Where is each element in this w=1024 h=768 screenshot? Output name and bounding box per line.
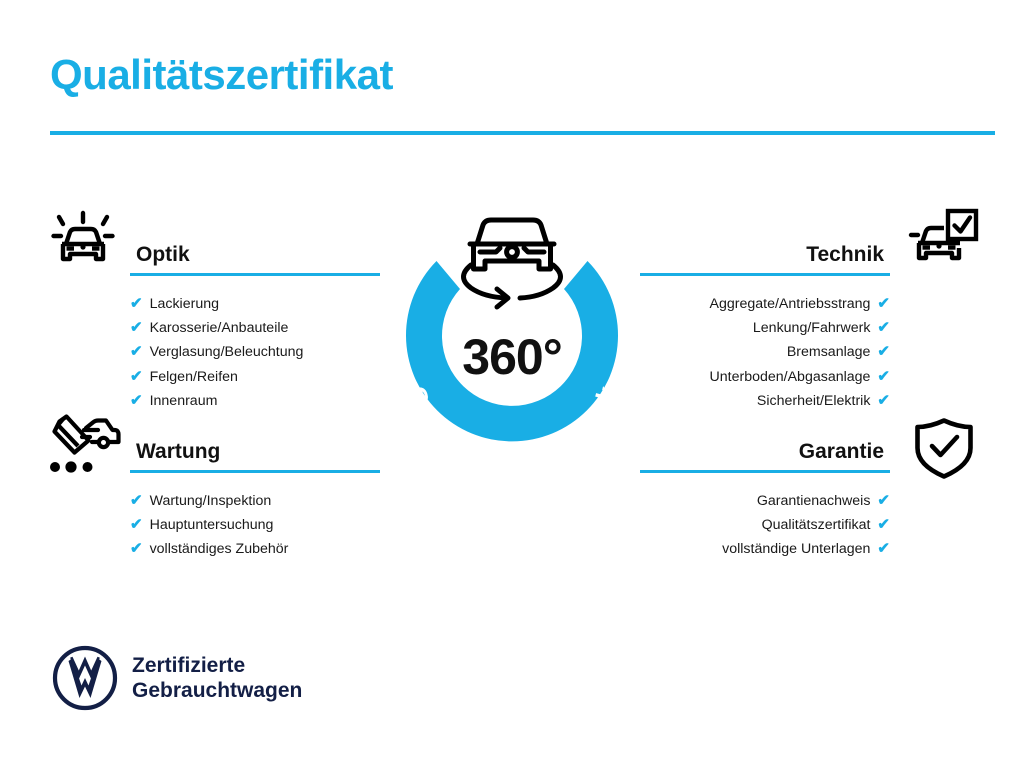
check-icon: ✔ <box>877 340 890 363</box>
list-item-label: Karosserie/Anbauteile <box>150 317 289 340</box>
list-item: Sicherheit/Elektrik✔ <box>640 389 890 413</box>
check-icon: ✔ <box>130 340 143 363</box>
list-item: Aggregate/Antriebsstrang✔ <box>640 292 890 316</box>
check-icon: ✔ <box>130 365 143 388</box>
section-divider-optik <box>130 273 380 276</box>
section-title-optik: Optik <box>130 242 380 268</box>
section-list-technik: Aggregate/Antriebsstrang✔ Lenkung/Fahrwe… <box>640 292 890 413</box>
list-item-label: Innenraum <box>150 390 218 413</box>
list-item-label: Aggregate/Antriebsstrang <box>710 293 871 316</box>
list-item: Lenkung/Fahrwerk✔ <box>640 316 890 340</box>
check-icon: ✔ <box>877 292 890 315</box>
list-item: ✔Wartung/Inspektion <box>130 489 380 513</box>
check-icon: ✔ <box>130 292 143 315</box>
badge-center-label: 360° <box>378 328 646 386</box>
check-icon: ✔ <box>877 389 890 412</box>
list-item: ✔Lackierung <box>130 292 380 316</box>
list-item-label: Lackierung <box>150 293 219 316</box>
check-icon: ✔ <box>130 489 143 512</box>
vw-logo-text-line1: Zertifizierte <box>132 653 302 678</box>
section-technik: Technik Aggregate/Antriebsstrang✔ Lenkun… <box>640 242 890 413</box>
check-icon: ✔ <box>877 513 890 536</box>
section-divider-garantie <box>640 470 890 473</box>
pencil-car-icon <box>46 414 122 485</box>
list-item-label: Lenkung/Fahrwerk <box>753 317 871 340</box>
check-icon: ✔ <box>877 537 890 560</box>
check-icon: ✔ <box>877 316 890 339</box>
list-item-label: Garantienachweis <box>757 490 871 513</box>
section-list-optik: ✔Lackierung ✔Karosserie/Anbauteile ✔Verg… <box>130 292 380 413</box>
list-item: ✔Hauptuntersuchung <box>130 513 380 537</box>
check-icon: ✔ <box>877 365 890 388</box>
section-title-garantie: Garantie <box>640 439 890 465</box>
section-divider-wartung <box>130 470 380 473</box>
section-wartung: Wartung ✔Wartung/Inspektion ✔Hauptunters… <box>130 439 380 562</box>
list-item: Garantienachweis✔ <box>640 489 890 513</box>
list-item-label: Sicherheit/Elektrik <box>757 390 871 413</box>
section-garantie: Garantie Garantienachweis✔ Qualitätszert… <box>640 439 890 562</box>
section-list-wartung: ✔Wartung/Inspektion ✔Hauptuntersuchung ✔… <box>130 489 380 562</box>
section-header-garantie: Garantie <box>640 439 890 475</box>
list-item: Bremsanlage✔ <box>640 340 890 364</box>
list-item-label: Felgen/Reifen <box>150 366 238 389</box>
check-icon: ✔ <box>130 389 143 412</box>
page-title: Qualitätszertifikat <box>50 52 393 98</box>
list-item: ✔Innenraum <box>130 389 380 413</box>
certificate-page: Qualitätszertifikat Optik <box>0 0 1024 768</box>
car-checkbox-icon <box>908 203 980 280</box>
section-title-technik: Technik <box>640 242 890 268</box>
car-polish-icon <box>47 203 119 280</box>
vw-certified-logo-block: Zertifizierte Gebrauchtwagen <box>52 645 302 711</box>
check-icon: ✔ <box>877 489 890 512</box>
list-item-label: Wartung/Inspektion <box>150 490 272 513</box>
check-icon: ✔ <box>130 537 143 560</box>
list-item-label: Qualitätszertifikat <box>762 514 871 537</box>
list-item-label: vollständiges Zubehör <box>150 538 289 561</box>
badge-360-gebrauchtwagen-check: Gebrauchtwagen-Check 360° <box>378 197 646 487</box>
section-optik: Optik ✔Lackierung ✔Karosserie/Anbauteile… <box>130 242 380 413</box>
shield-check-icon <box>912 415 976 486</box>
list-item-label: Hauptuntersuchung <box>150 514 274 537</box>
list-item: ✔Felgen/Reifen <box>130 365 380 389</box>
list-item-label: Bremsanlage <box>787 341 871 364</box>
car-rotate-icon <box>464 220 561 307</box>
list-item-label: Verglasung/Beleuchtung <box>150 341 304 364</box>
list-item: ✔vollständiges Zubehör <box>130 537 380 561</box>
vw-logo <box>52 645 118 711</box>
section-header-wartung: Wartung <box>130 439 380 475</box>
list-item: Qualitätszertifikat✔ <box>640 513 890 537</box>
check-icon: ✔ <box>130 513 143 536</box>
check-icon: ✔ <box>130 316 143 339</box>
list-item: vollständige Unterlagen✔ <box>640 537 890 561</box>
section-list-garantie: Garantienachweis✔ Qualitätszertifikat✔ v… <box>640 489 890 562</box>
list-item: ✔Karosserie/Anbauteile <box>130 316 380 340</box>
list-item-label: vollständige Unterlagen <box>722 538 870 561</box>
list-item: Unterboden/Abgasanlage✔ <box>640 365 890 389</box>
list-item: ✔Verglasung/Beleuchtung <box>130 340 380 364</box>
section-title-wartung: Wartung <box>130 439 380 465</box>
vw-logo-text: Zertifizierte Gebrauchtwagen <box>132 653 302 703</box>
section-divider-technik <box>640 273 890 276</box>
section-header-optik: Optik <box>130 242 380 278</box>
section-header-technik: Technik <box>640 242 890 278</box>
list-item-label: Unterboden/Abgasanlage <box>710 366 871 389</box>
header-divider <box>50 131 995 135</box>
vw-logo-text-line2: Gebrauchtwagen <box>132 678 302 703</box>
